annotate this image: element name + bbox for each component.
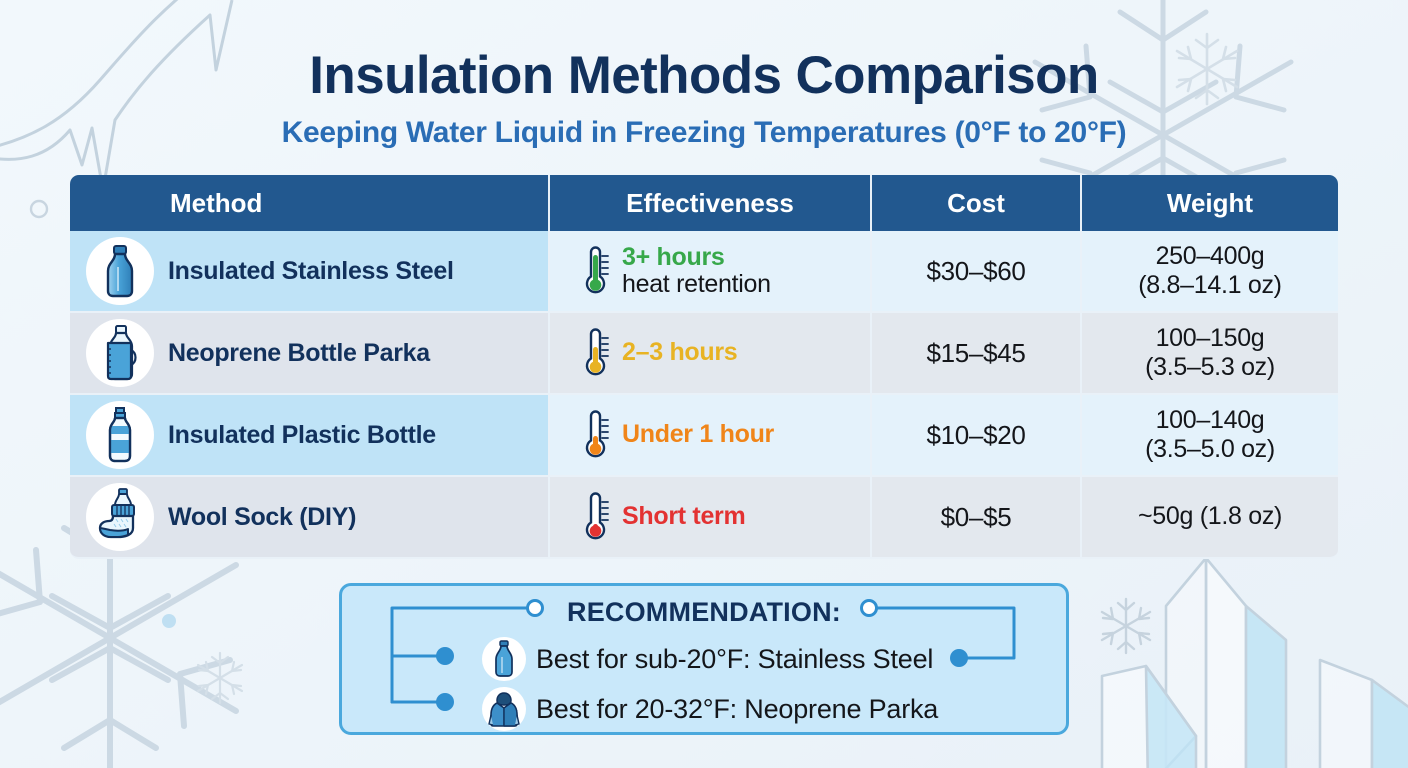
weight-line-1: 250–400g (1156, 242, 1265, 270)
cost-value: $30–$60 (926, 256, 1025, 287)
method-name: Insulated Plastic Bottle (168, 421, 436, 450)
page-title: Insulation Methods Comparison (70, 0, 1338, 104)
weight-value: 100–150g (3.5–5.3 oz) (1082, 324, 1338, 383)
cost-value: $0–$5 (941, 502, 1012, 533)
column-header-method: Method (70, 175, 550, 231)
column-header-cost: Cost (872, 175, 1082, 231)
cell-cost: $30–$60 (872, 231, 1082, 313)
column-header-weight: Weight (1082, 175, 1338, 231)
table-row: Insulated Stainless Steel 3+ hours (70, 231, 1338, 313)
cell-weight: ~50g (1.8 oz) (1082, 477, 1338, 559)
effectiveness-primary: Short term (622, 503, 745, 531)
infographic-page: Insulation Methods Comparison Keeping Wa… (0, 0, 1408, 768)
column-header-effectiveness: Effectiveness (550, 175, 872, 231)
weight-value: 100–140g (3.5–5.0 oz) (1082, 406, 1338, 465)
cell-cost: $10–$20 (872, 395, 1082, 477)
cell-method: Insulated Plastic Bottle (70, 395, 550, 477)
recommendation-item-2: Best for 20-32°F: Neoprene Parka (482, 686, 938, 732)
page-subtitle: Keeping Water Liquid in Freezing Tempera… (70, 116, 1338, 150)
cell-weight: 250–400g (8.8–14.1 oz) (1082, 231, 1338, 313)
cell-weight: 100–150g (3.5–5.3 oz) (1082, 313, 1338, 395)
comparison-table: Method Effectiveness Cost Weight (70, 175, 1338, 559)
stainless-steel-bottle-icon (482, 637, 526, 681)
recommendation-item-text: Best for 20-32°F: Neoprene Parka (536, 694, 938, 725)
weight-line-2: (8.8–14.1 oz) (1138, 271, 1281, 299)
cell-effectiveness: 2–3 hours (550, 313, 872, 395)
neoprene-bottle-parka-icon (86, 319, 154, 387)
weight-line-2: (3.5–5.3 oz) (1145, 353, 1275, 381)
effectiveness-secondary: heat retention (622, 271, 771, 299)
effectiveness-primary: 3+ hours (622, 244, 771, 272)
weight-line-1: 100–140g (1156, 406, 1265, 434)
method-name: Wool Sock (DIY) (168, 503, 356, 532)
connector-node-filled-item-2 (436, 693, 454, 711)
cost-value: $10–$20 (926, 420, 1025, 451)
thermometer-icon (580, 407, 610, 463)
method-name: Insulated Stainless Steel (168, 257, 454, 286)
weight-value: 250–400g (8.8–14.1 oz) (1082, 242, 1338, 301)
cell-effectiveness: Short term (550, 477, 872, 559)
connector-node-filled-right (950, 649, 968, 667)
cost-value: $15–$45 (926, 338, 1025, 369)
cell-cost: $0–$5 (872, 477, 1082, 559)
weight-line-2: (3.5–5.0 oz) (1145, 435, 1275, 463)
cell-method: Wool Sock (DIY) (70, 477, 550, 559)
parka-jacket-icon (482, 687, 526, 731)
recommendation-item-text: Best for sub-20°F: Stainless Steel (536, 644, 933, 675)
recommendation-panel: RECOMMENDATION: (339, 583, 1069, 735)
method-name: Neoprene Bottle Parka (168, 339, 430, 368)
cell-method: Insulated Stainless Steel (70, 231, 550, 313)
cell-effectiveness: Under 1 hour (550, 395, 872, 477)
recommendation-title: RECOMMENDATION: (342, 597, 1066, 628)
weight-line-1: 100–150g (1156, 324, 1265, 352)
insulated-stainless-steel-bottle-icon (86, 237, 154, 305)
thermometer-icon (580, 243, 610, 299)
effectiveness-primary: 2–3 hours (622, 339, 737, 367)
weight-value: ~50g (1.8 oz) (1082, 502, 1338, 532)
table-row: Neoprene Bottle Parka 2–3 hours (70, 313, 1338, 395)
connector-node-filled-item-1 (436, 647, 454, 665)
insulated-plastic-bottle-icon (86, 401, 154, 469)
cell-weight: 100–140g (3.5–5.0 oz) (1082, 395, 1338, 477)
cell-method: Neoprene Bottle Parka (70, 313, 550, 395)
thermometer-icon (580, 489, 610, 545)
wool-sock-bottle-icon (86, 483, 154, 551)
table-row: Insulated Plastic Bottle Under 1 hour (70, 395, 1338, 477)
cell-effectiveness: 3+ hours heat retention (550, 231, 872, 313)
thermometer-icon (580, 325, 610, 381)
table-row: Wool Sock (DIY) Short term (70, 477, 1338, 559)
recommendation-item-1: Best for sub-20°F: Stainless Steel (482, 636, 938, 682)
effectiveness-primary: Under 1 hour (622, 421, 774, 449)
cell-cost: $15–$45 (872, 313, 1082, 395)
table-header-row: Method Effectiveness Cost Weight (70, 175, 1338, 231)
recommendation-list: Best for sub-20°F: Stainless Steel Best … (482, 636, 938, 732)
